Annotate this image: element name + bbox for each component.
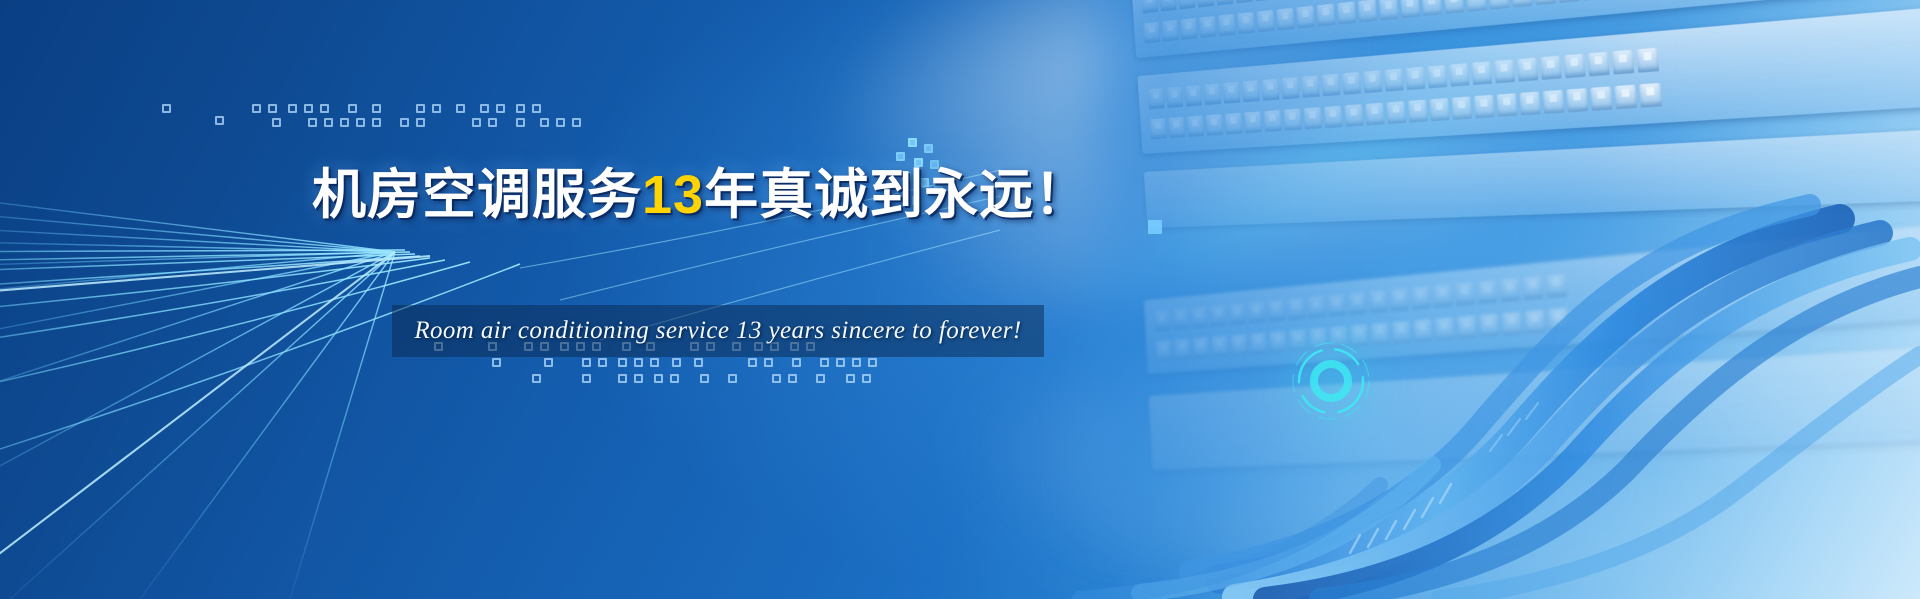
ethernet-cables	[1020, 179, 1920, 599]
tech-hud-ring	[1288, 338, 1374, 424]
promo-banner: 机房空调服务13年真诚到永远！ Room air conditioning se…	[0, 0, 1920, 599]
page-title: 机房空调服务13年真诚到永远！	[312, 168, 1089, 222]
subtitle-text: Room air conditioning service 13 years s…	[414, 317, 1021, 345]
headline-prefix: 机房空调服务	[312, 165, 642, 225]
subtitle-bar: Room air conditioning service 13 years s…	[392, 305, 1044, 357]
headline-suffix: 年真诚到永远！	[704, 165, 1089, 225]
headline-number: 13	[642, 165, 704, 225]
